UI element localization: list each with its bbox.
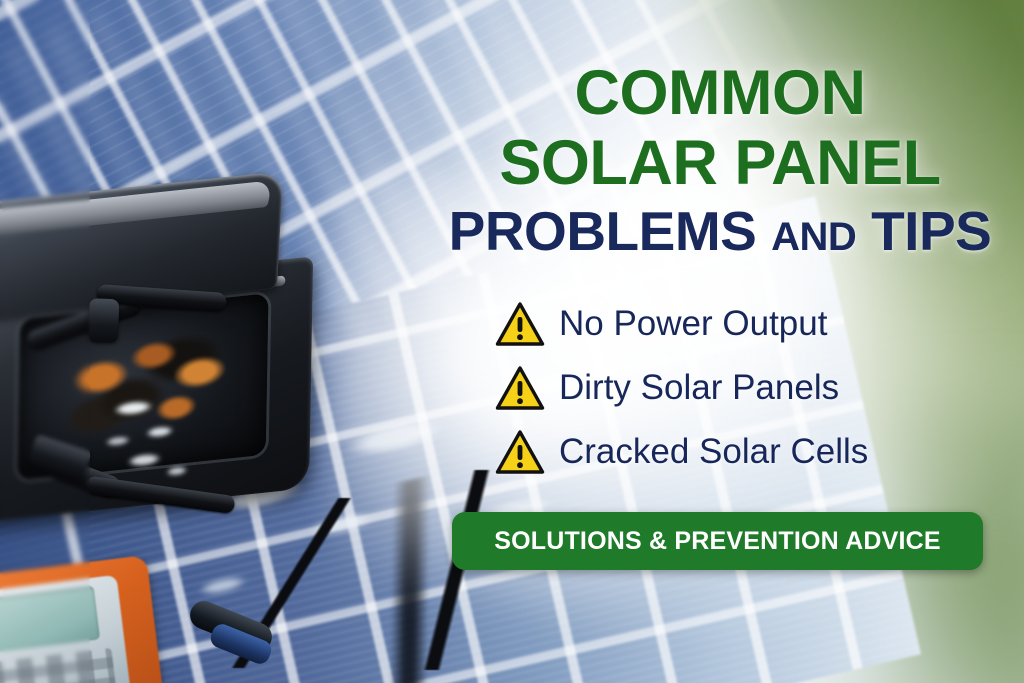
problem-list: No Power Output Dirty Solar Panels Crack…: [495, 292, 1015, 484]
warning-triangle-icon: [495, 365, 545, 411]
photo-edge-blur: [0, 0, 90, 683]
solar-panel-banner: COMMON SOLAR PANEL PROBLEMS AND TIPS No …: [0, 0, 1024, 683]
headline-line-1: COMMON: [440, 62, 1000, 125]
solutions-prevention-advice-button[interactable]: SOLUTIONS & PREVENTION ADVICE: [452, 512, 983, 570]
headline-problems: PROBLEMS: [449, 200, 757, 262]
banner-content: COMMON SOLAR PANEL PROBLEMS AND TIPS No …: [440, 0, 1024, 683]
cta-label: SOLUTIONS & PREVENTION ADVICE: [494, 527, 941, 556]
headline: COMMON SOLAR PANEL PROBLEMS AND TIPS: [440, 62, 1000, 259]
list-item-label: No Power Output: [559, 304, 827, 344]
list-item-label: Dirty Solar Panels: [559, 368, 839, 408]
list-item: Dirty Solar Panels: [495, 356, 1015, 420]
cable-gland-2: [88, 298, 120, 343]
warning-triangle-icon: [495, 301, 545, 347]
warning-triangle-icon: [495, 429, 545, 475]
list-item: No Power Output: [495, 292, 1015, 356]
list-item-label: Cracked Solar Cells: [559, 432, 868, 472]
headline-line-3: PROBLEMS AND TIPS: [440, 204, 1000, 259]
list-item: Cracked Solar Cells: [495, 420, 1015, 484]
headline-line-2: SOLAR PANEL: [440, 132, 1000, 195]
headline-and: AND: [771, 215, 856, 259]
headline-tips: TIPS: [871, 200, 991, 262]
